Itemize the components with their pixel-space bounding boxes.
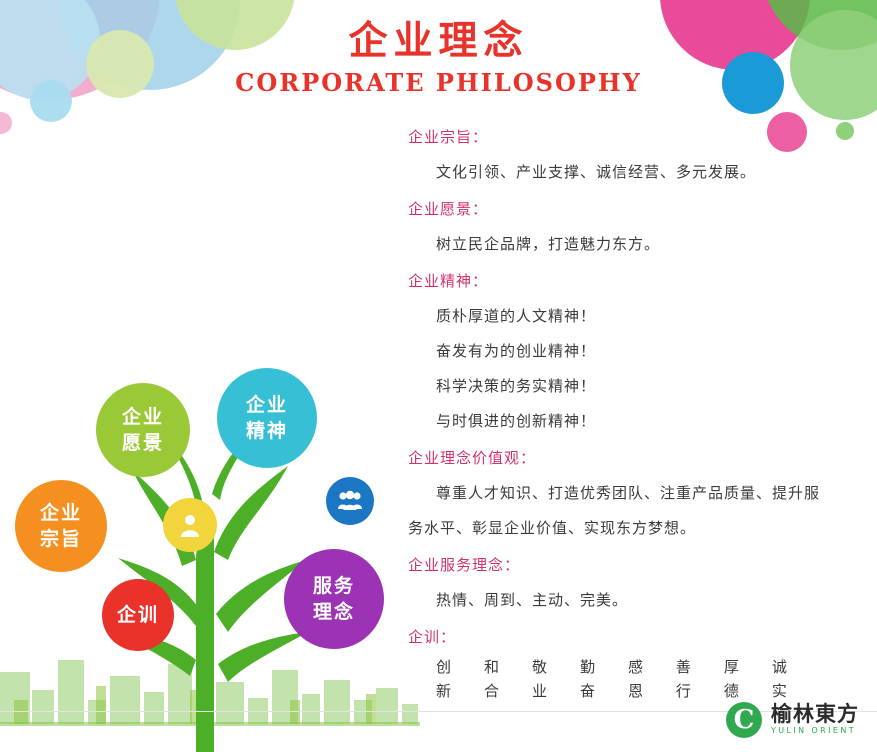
section-values-heading: 企业理念价值观：	[408, 441, 848, 476]
brand-name-cn: 榆林東方	[771, 703, 859, 725]
section-creed: 企训： 创 新 和 合 敬 业 勤 奋 感	[408, 620, 848, 703]
creed-char-bottom: 实	[772, 679, 788, 703]
circle-aim[interactable]: 企业宗旨	[15, 480, 107, 572]
creed-column: 善 行	[676, 655, 692, 703]
creed-char-bottom: 德	[724, 679, 740, 703]
circle-vision[interactable]: 企业愿景	[96, 383, 190, 477]
section-spirit: 企业精神： 质朴厚道的人文精神！ 奋发有为的创业精神！ 科学决策的务实精神！ 与…	[408, 264, 848, 439]
section-spirit-line: 科学决策的务实精神！	[408, 369, 848, 404]
poster-canvas: 企业理念 CORPORATE PHILOSOPHY	[0, 0, 877, 752]
creed-column: 勤 奋	[580, 655, 596, 703]
section-values-line: 尊重人才知识、打造优秀团队、注重产品质量、提升服	[408, 476, 848, 511]
page-title-cn: 企业理念	[0, 18, 877, 66]
circle-spirit-label: 企业精神	[246, 392, 288, 444]
person-icon	[163, 498, 217, 552]
section-spirit-heading: 企业精神：	[408, 264, 848, 299]
creed-char-bottom: 合	[484, 679, 500, 703]
page-title-en: CORPORATE PHILOSOPHY	[0, 68, 877, 98]
creed-column: 创 新	[436, 655, 452, 703]
creed-char-bottom: 恩	[628, 679, 644, 703]
section-service: 企业服务理念： 热情、周到、主动、完美。	[408, 548, 848, 618]
circle-spirit[interactable]: 企业精神	[217, 368, 317, 468]
creed-char-top: 善	[676, 655, 692, 679]
circle-service-label: 服务理念	[313, 573, 355, 625]
creed-char-top: 和	[484, 655, 500, 679]
logo-mark-icon: C	[726, 702, 762, 738]
section-values-line: 务水平、彰显企业价值、实现东方梦想。	[408, 511, 848, 546]
creed-char-top: 诚	[772, 655, 788, 679]
circle-aim-label: 企业宗旨	[40, 500, 82, 552]
creed-column: 诚 实	[772, 655, 788, 703]
creed-char-bottom: 业	[532, 679, 548, 703]
creed-column: 和 合	[484, 655, 500, 703]
creed-char-top: 创	[436, 655, 452, 679]
circle-vision-label: 企业愿景	[122, 404, 164, 456]
person-icon-glyph	[176, 511, 204, 539]
creed-char-top: 勤	[580, 655, 596, 679]
section-aim-heading: 企业宗旨：	[408, 120, 848, 155]
section-spirit-line: 质朴厚道的人文精神！	[408, 299, 848, 334]
tree-circle-group: 企业愿景 企业精神 企业宗旨 服务理念 企训	[0, 350, 410, 752]
brand-logo: C 榆林東方 YULIN ORIENT	[726, 702, 859, 738]
philosophy-content: 企业宗旨： 文化引领、产业支撑、诚信经营、多元发展。 企业愿景： 树立民企品牌，…	[408, 120, 848, 705]
section-vision-line: 树立民企品牌，打造魅力东方。	[408, 227, 848, 262]
creed-char-bottom: 奋	[580, 679, 596, 703]
section-creed-heading: 企训：	[408, 620, 848, 655]
brand-text: 榆林東方 YULIN ORIENT	[771, 703, 859, 737]
circle-creed-label: 企训	[117, 602, 159, 628]
creed-column: 敬 业	[532, 655, 548, 703]
section-spirit-line: 奋发有为的创业精神！	[408, 334, 848, 369]
section-aim-line: 文化引领、产业支撑、诚信经营、多元发展。	[408, 155, 848, 190]
section-service-heading: 企业服务理念：	[408, 548, 848, 583]
creed-column: 厚 德	[724, 655, 740, 703]
section-service-line: 热情、周到、主动、完美。	[408, 583, 848, 618]
section-values: 企业理念价值观： 尊重人才知识、打造优秀团队、注重产品质量、提升服 务水平、彰显…	[408, 441, 848, 546]
brand-name-en: YULIN ORIENT	[771, 725, 859, 737]
group-icon-glyph	[337, 490, 363, 512]
creed-char-top: 敬	[532, 655, 548, 679]
circle-creed[interactable]: 企训	[102, 579, 174, 651]
group-icon	[326, 477, 374, 525]
circle-service[interactable]: 服务理念	[284, 549, 384, 649]
creed-column: 感 恩	[628, 655, 644, 703]
creed-char-top: 厚	[724, 655, 740, 679]
creed-char-bottom: 行	[676, 679, 692, 703]
creed-char-bottom: 新	[436, 679, 452, 703]
creed-char-top: 感	[628, 655, 644, 679]
section-aim: 企业宗旨： 文化引领、产业支撑、诚信经营、多元发展。	[408, 120, 848, 190]
section-vision: 企业愿景： 树立民企品牌，打造魅力东方。	[408, 192, 848, 262]
poster-header: 企业理念 CORPORATE PHILOSOPHY	[0, 18, 877, 98]
section-spirit-line: 与时俱进的创新精神！	[408, 404, 848, 439]
creed-grid: 创 新 和 合 敬 业 勤 奋 感 恩	[408, 655, 812, 703]
section-vision-heading: 企业愿景：	[408, 192, 848, 227]
